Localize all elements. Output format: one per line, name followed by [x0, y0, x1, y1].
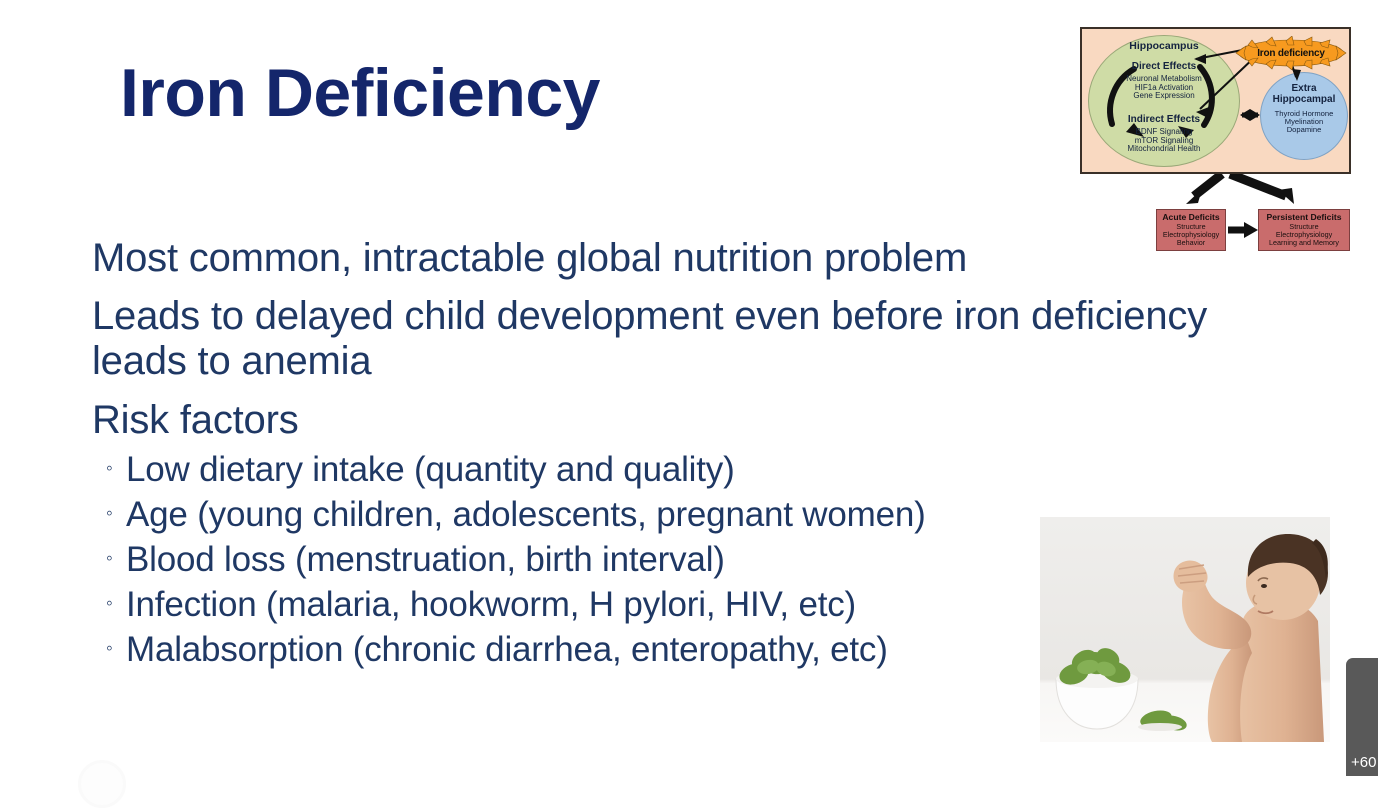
bullet-circle-icon: ◦	[92, 459, 126, 478]
acute-deficits-box: Acute Deficits Structure Electrophysiolo…	[1156, 209, 1226, 251]
extra-hippocampal-heading-line2: Hippocampal	[1264, 95, 1344, 106]
direct-effects-heading: Direct Effects	[1104, 62, 1224, 73]
bullet-circle-icon: ◦	[92, 504, 126, 523]
indirect-effects-heading: Indirect Effects	[1104, 115, 1224, 126]
slide-canvas: Iron Deficiency Most common, intractable…	[0, 0, 1378, 776]
bullet-circle-icon: ◦	[92, 594, 126, 613]
bullet-circle-icon: ◦	[92, 639, 126, 658]
iron-deficiency-mechanism-diagram: Iron deficiency Hippocampus Direct Effec…	[1080, 27, 1351, 174]
avatar	[78, 760, 126, 808]
indirect-effects-line: Mitochondrial Health	[1100, 145, 1228, 154]
participant-count-label: +60	[1351, 754, 1376, 771]
starburst-label: Iron deficiency	[1232, 36, 1350, 70]
direct-effects-lines: Neuronal Metabolism HIF1a Activation Gen…	[1100, 75, 1228, 101]
video-participants-overflow-tile[interactable]: +60	[1346, 658, 1378, 776]
list-item: ◦ Low dietary intake (quantity and quali…	[92, 447, 1272, 492]
extra-hippocampal-lines: Thyroid Hormone Myelination Dopamine	[1262, 110, 1346, 135]
extra-hippocampal-line: Dopamine	[1262, 126, 1346, 134]
photo-illustration	[1040, 517, 1330, 742]
hippocampus-label: Hippocampus	[1096, 41, 1232, 52]
bullet-circle-icon: ◦	[92, 549, 126, 568]
extra-hippocampal-heading: Extra Hippocampal	[1264, 84, 1344, 106]
boy-flexing-spinach-photo	[1040, 517, 1330, 742]
risk-factors-heading: Risk factors	[92, 398, 1272, 443]
iron-deficiency-starburst: Iron deficiency	[1232, 36, 1350, 70]
paragraph-2: Leads to delayed child development even …	[92, 294, 1272, 384]
indirect-effects-lines: BDNF Signaling mTOR Signaling Mitochondr…	[1100, 128, 1228, 154]
persistent-deficits-line: Learning and Memory	[1259, 239, 1349, 247]
page-title: Iron Deficiency	[120, 58, 600, 129]
direct-effects-line: Gene Expression	[1100, 92, 1228, 101]
deficits-diagram: Acute Deficits Structure Electrophysiolo…	[1080, 174, 1351, 256]
acute-deficits-line: Behavior	[1157, 239, 1225, 247]
persistent-deficits-box: Persistent Deficits Structure Electrophy…	[1258, 209, 1350, 251]
list-item-label: Low dietary intake (quantity and quality…	[126, 447, 1272, 492]
